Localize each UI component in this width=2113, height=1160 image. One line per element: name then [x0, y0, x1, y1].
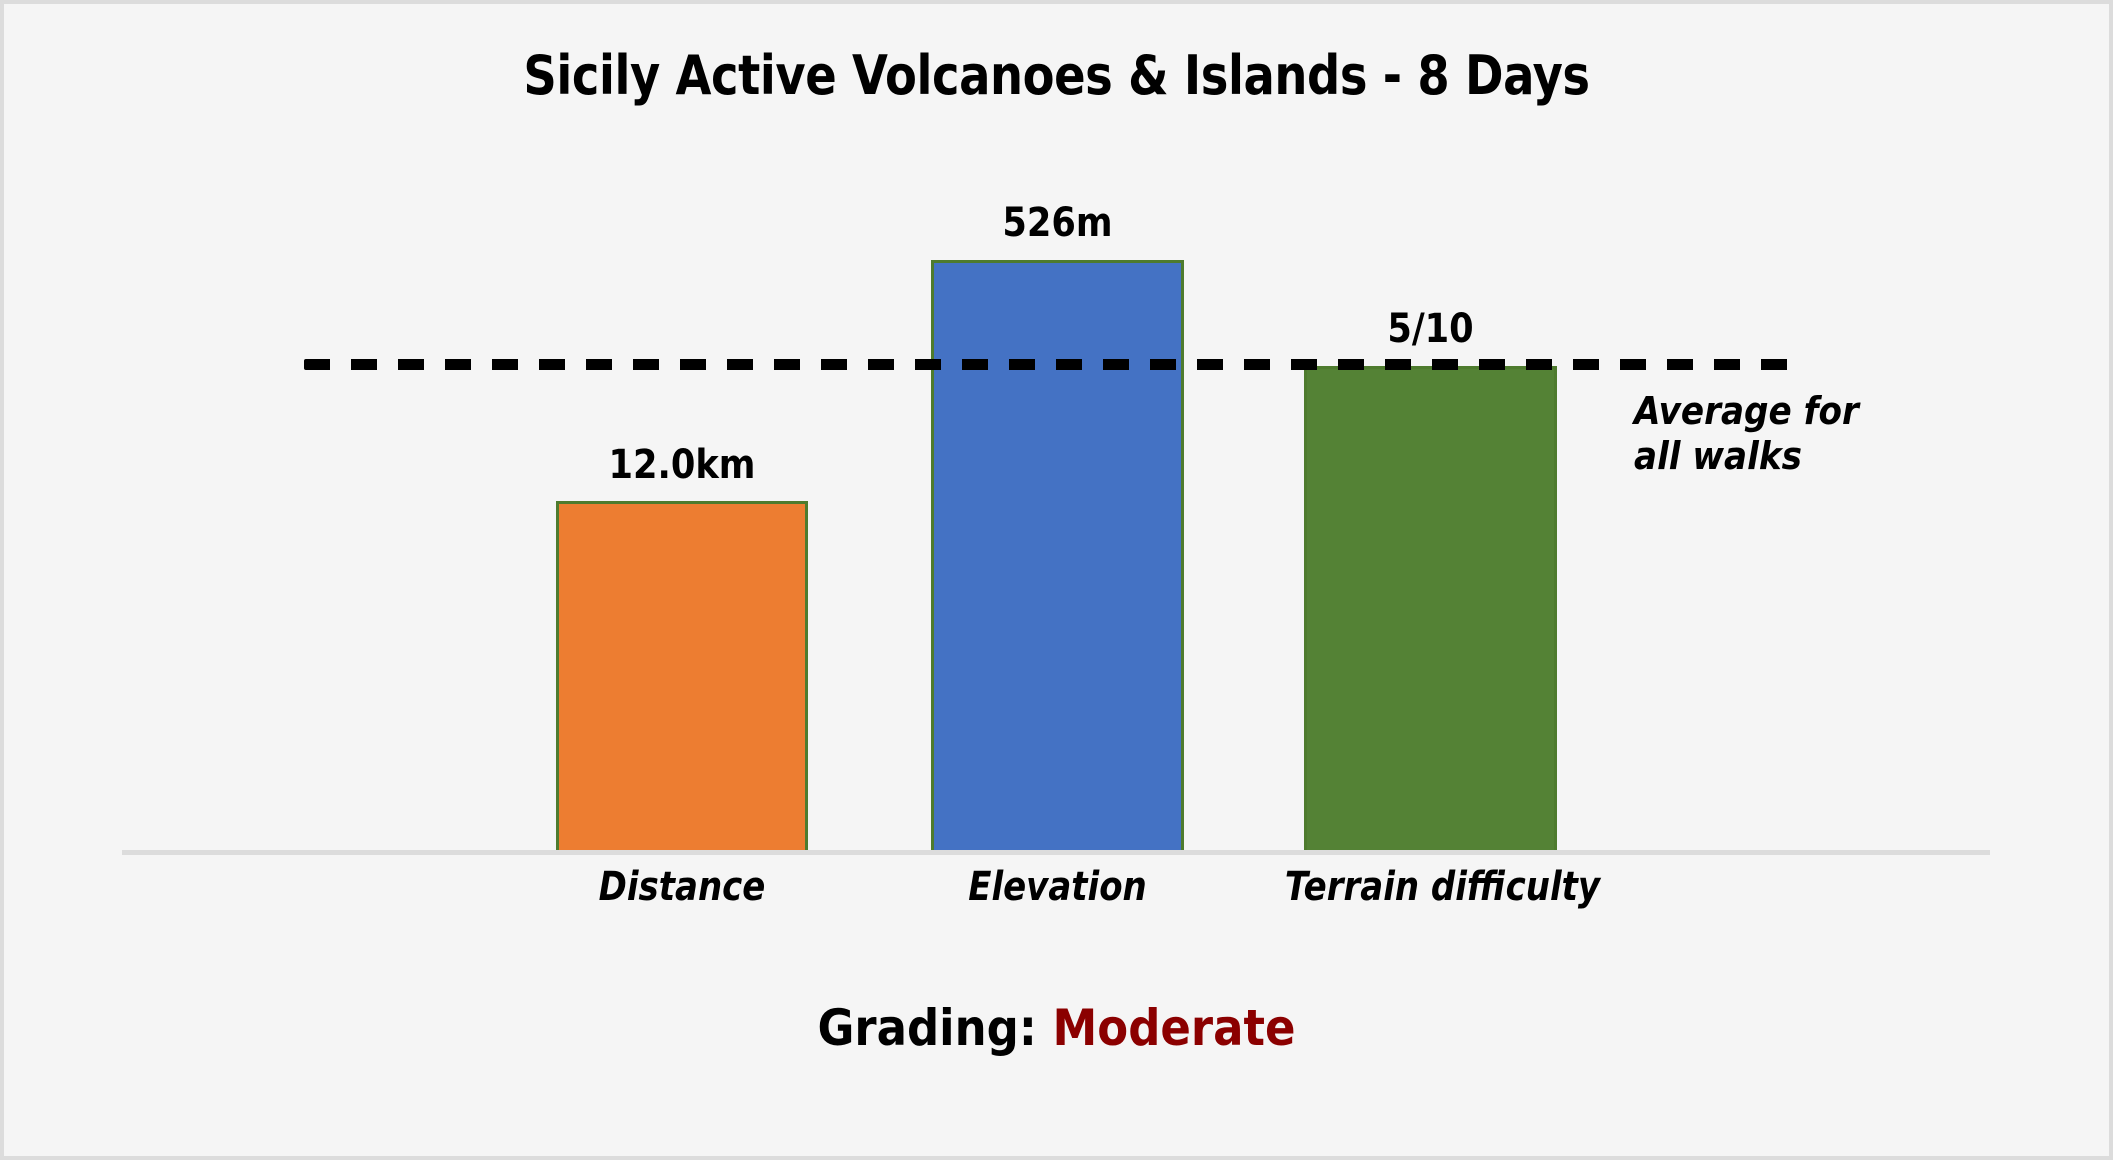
- category-label-elevation: Elevation: [950, 864, 1165, 910]
- bar-value-terrain-difficulty: 5/10: [1319, 306, 1542, 352]
- average-annotation: Average for all walks: [1634, 389, 1904, 479]
- grading-label: Grading:: [817, 999, 1036, 1057]
- average-reference-line: [304, 359, 1799, 370]
- bar-terrain-difficulty[interactable]: [1304, 366, 1557, 853]
- average-annotation-line1: Average for: [1634, 389, 1904, 434]
- grading-footer: Grading: Moderate: [109, 999, 2004, 1057]
- category-label-distance: Distance: [575, 864, 789, 910]
- plot-area: 12.0km 526m 5/10 Average for all walks D…: [4, 4, 2109, 1156]
- bar-value-elevation: 526m: [946, 200, 1169, 246]
- chart-canvas: Sicily Active Volcanoes & Islands - 8 Da…: [0, 0, 2113, 1160]
- bar-elevation[interactable]: [931, 260, 1184, 853]
- bar-distance[interactable]: [556, 501, 808, 853]
- bar-value-distance: 12.0km: [571, 442, 793, 488]
- category-label-terrain-difficulty: Terrain difficulty: [1285, 864, 1578, 910]
- average-annotation-line2: all walks: [1634, 434, 1904, 479]
- category-axis-line: [122, 850, 1990, 855]
- grading-value: Moderate: [1053, 999, 1296, 1057]
